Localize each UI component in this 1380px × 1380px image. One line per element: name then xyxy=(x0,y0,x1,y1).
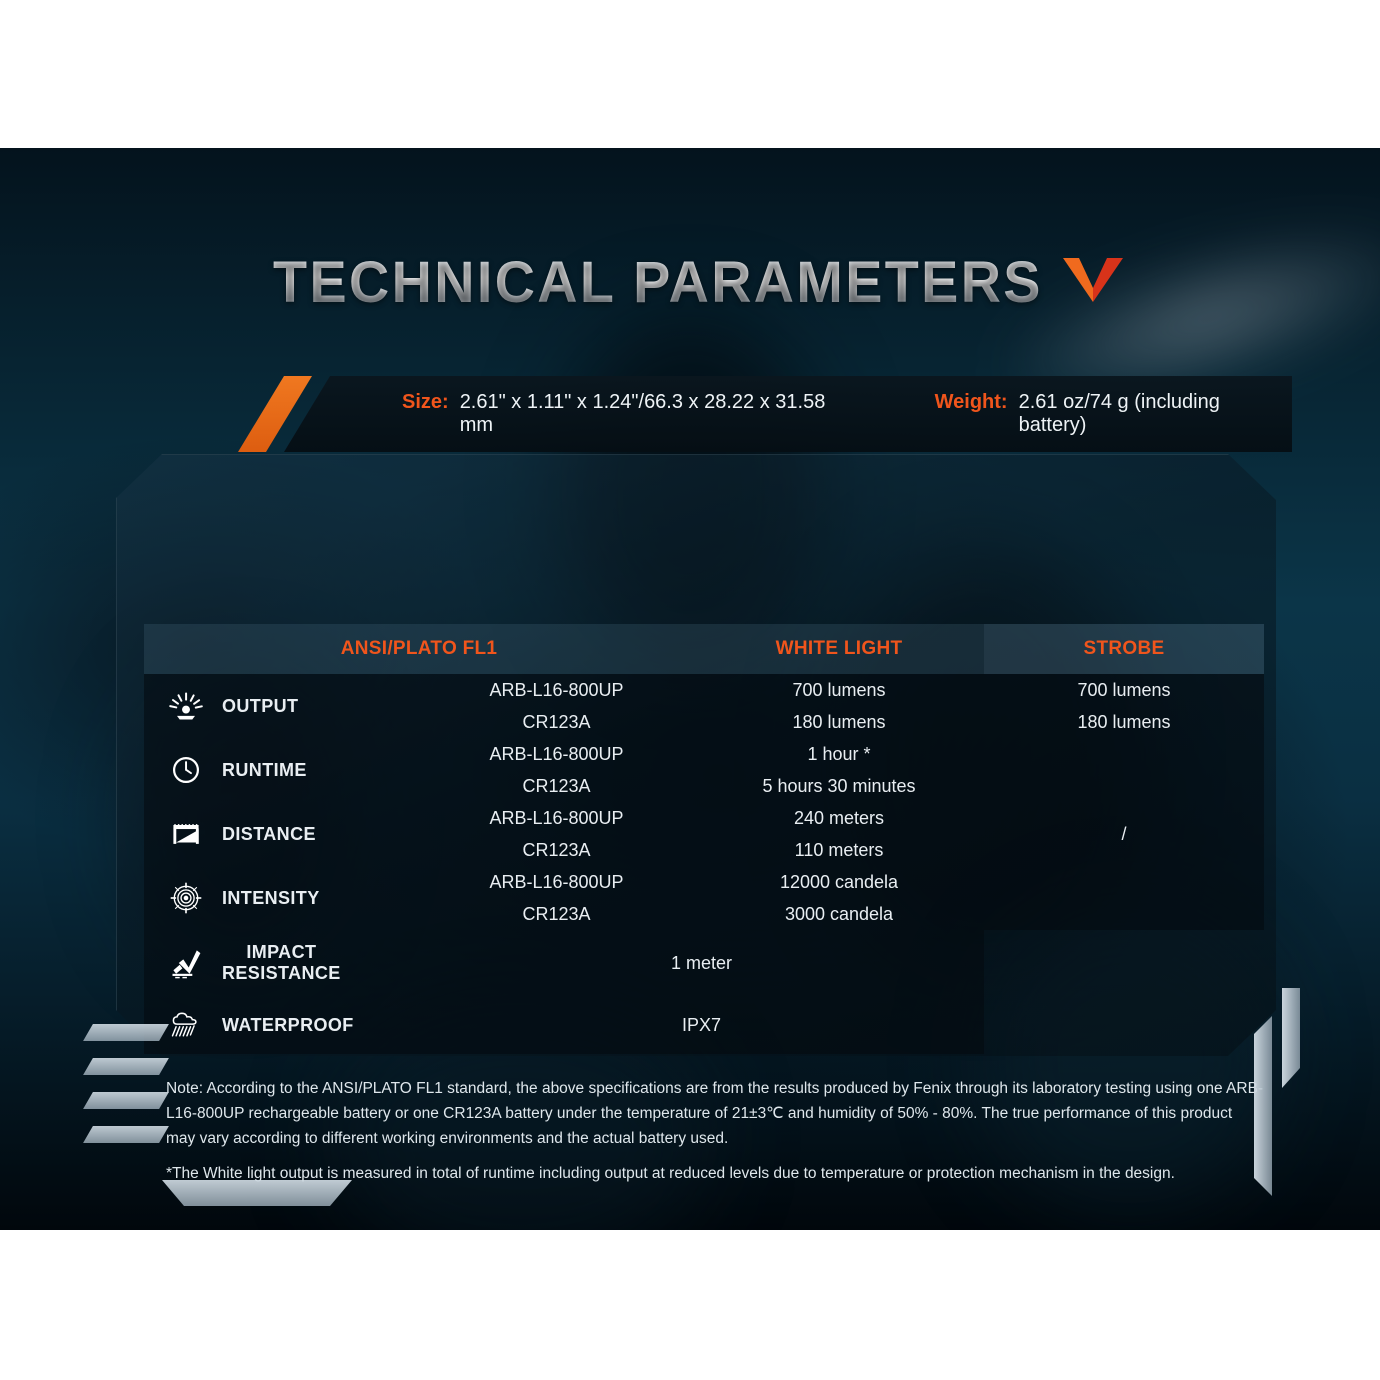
strobe-not-applicable: / xyxy=(984,738,1264,930)
impact-resistance-icon xyxy=(166,943,206,983)
hero-panel: TECHNICAL PARAMETERS Size: 2.61" x 1.11"… xyxy=(0,148,1380,1230)
battery-cell: ARB-L16-800UP xyxy=(419,802,694,834)
spec-size-label: Size: xyxy=(402,391,449,414)
category-cell-runtime: RUNTIME xyxy=(144,738,419,802)
note-block: Note: According to the ANSI/PLATO FL1 st… xyxy=(166,1076,1264,1186)
white-light-cell: 700 lumens xyxy=(694,674,984,706)
battery-cell: CR123A xyxy=(419,898,694,930)
white-light-cell: 110 meters xyxy=(694,834,984,866)
page-root: TECHNICAL PARAMETERS Size: 2.61" x 1.11"… xyxy=(0,0,1380,1380)
table-row: WATERPROOF IPX7 xyxy=(144,996,1264,1054)
category-cell-waterproof: WATERPROOF xyxy=(144,996,419,1054)
battery-cell: ARB-L16-800UP xyxy=(419,866,694,898)
decorative-stripe xyxy=(83,1126,169,1143)
battery-cell: CR123A xyxy=(419,834,694,866)
header-cell-white-light: WHITE LIGHT xyxy=(694,624,984,674)
category-cell-impact-resistance: IMPACT RESISTANCE xyxy=(144,930,419,996)
white-light-cell: 180 lumens xyxy=(694,706,984,738)
spec-frame: Size: 2.61" x 1.11" x 1.24"/66.3 x 28.22… xyxy=(96,376,1292,1066)
decorative-bracket-right-bottom xyxy=(1254,1016,1272,1196)
spec-size: Size: 2.61" x 1.11" x 1.24"/66.3 x 28.22… xyxy=(402,391,863,437)
table-row: IMPACT RESISTANCE 1 meter xyxy=(144,930,1264,996)
clock-icon xyxy=(166,750,206,790)
impact-resistance-value: 1 meter xyxy=(419,930,984,996)
spec-weight-value: 2.61 oz/74 g (including battery) xyxy=(1019,391,1292,437)
white-light-cell: 3000 candela xyxy=(694,898,984,930)
category-label: OUTPUT xyxy=(222,696,298,717)
table-row: OUTPUT ARB-L16-800UP 700 lumens 700 lume… xyxy=(144,674,1264,706)
category-label-line2: RESISTANCE xyxy=(222,963,341,983)
rain-cloud-icon xyxy=(166,1005,206,1045)
category-cell-intensity: INTENSITY xyxy=(144,866,419,930)
white-light-cell: 12000 candela xyxy=(694,866,984,898)
white-light-cell: 5 hours 30 minutes xyxy=(694,770,984,802)
specbar: Size: 2.61" x 1.11" x 1.24"/66.3 x 28.22… xyxy=(284,376,1292,452)
decorative-corner-bracket-bottom-left xyxy=(162,1180,352,1206)
page-title-block: TECHNICAL PARAMETERS xyxy=(0,242,1380,316)
decorative-bracket-right-top xyxy=(1282,988,1300,1088)
battery-cell: ARB-L16-800UP xyxy=(419,674,694,706)
category-label: WATERPROOF xyxy=(222,1015,354,1036)
battery-cell: ARB-L16-800UP xyxy=(419,738,694,770)
beam-distance-icon xyxy=(166,814,206,854)
category-cell-output: OUTPUT xyxy=(144,674,419,738)
spec-weight: Weight: 2.61 oz/74 g (including battery) xyxy=(935,391,1292,437)
table-header-row: ANSI/PLATO FL1 WHITE LIGHT STROBE xyxy=(144,624,1264,674)
category-label: RUNTIME xyxy=(222,760,307,781)
category-cell-distance: DISTANCE xyxy=(144,802,419,866)
table-row: RUNTIME ARB-L16-800UP 1 hour * / xyxy=(144,738,1264,770)
white-light-cell: 1 hour * xyxy=(694,738,984,770)
specifications-table: ANSI/PLATO FL1 WHITE LIGHT STROBE xyxy=(144,624,1264,1054)
category-label: IMPACT RESISTANCE xyxy=(222,942,341,983)
header-cell-category: ANSI/PLATO FL1 xyxy=(144,624,694,674)
category-label-line1: IMPACT xyxy=(246,942,316,962)
battery-cell: CR123A xyxy=(419,706,694,738)
white-light-cell: 240 meters xyxy=(694,802,984,834)
note-paragraph-1: Note: According to the ANSI/PLATO FL1 st… xyxy=(166,1076,1264,1151)
category-label: DISTANCE xyxy=(222,824,316,845)
strobe-cell: 180 lumens xyxy=(984,706,1264,738)
spec-weight-label: Weight: xyxy=(935,391,1008,414)
target-intensity-icon xyxy=(166,878,206,918)
page-title: TECHNICAL PARAMETERS xyxy=(273,249,1043,316)
chevron-down-icon xyxy=(1063,258,1123,302)
battery-cell: CR123A xyxy=(419,770,694,802)
category-label: INTENSITY xyxy=(222,888,320,909)
strobe-cell: 700 lumens xyxy=(984,674,1264,706)
decorative-stripe xyxy=(83,1024,169,1041)
sunburst-icon xyxy=(166,686,206,726)
waterproof-value: IPX7 xyxy=(419,996,984,1054)
decorative-stripe xyxy=(83,1058,169,1075)
spec-size-value: 2.61" x 1.11" x 1.24"/66.3 x 28.22 x 31.… xyxy=(460,391,863,437)
header-cell-strobe: STROBE xyxy=(984,624,1264,674)
decorative-stripe xyxy=(83,1092,169,1109)
